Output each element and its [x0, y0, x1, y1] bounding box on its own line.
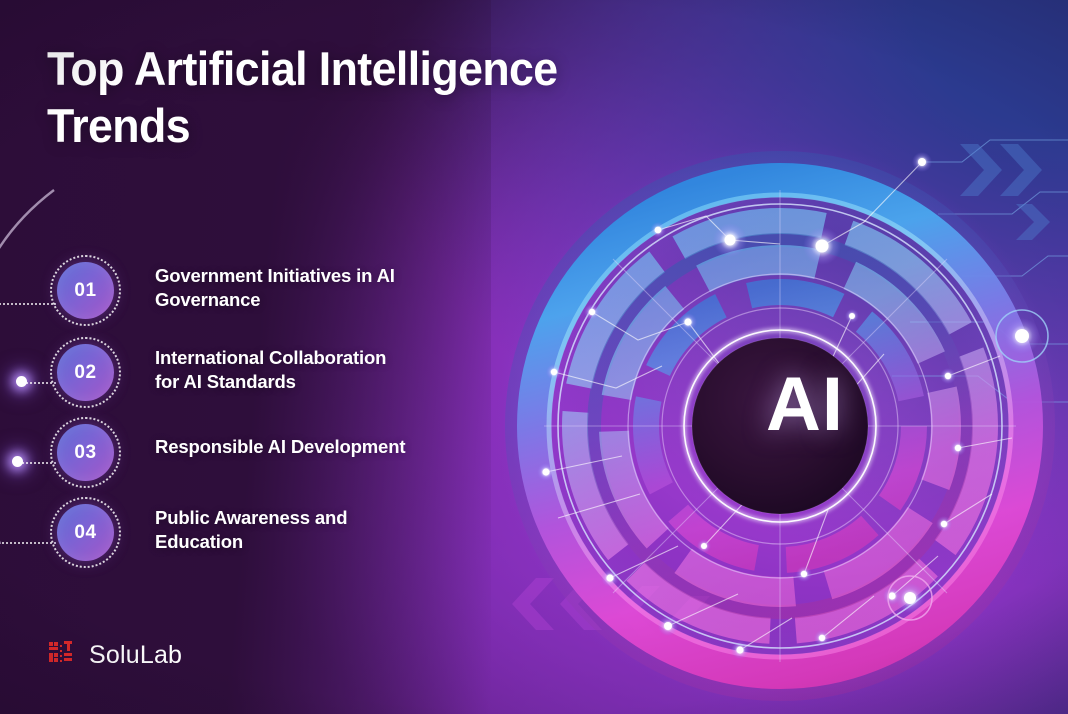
list-item[interactable]: 03 Responsible AI Development [0, 424, 540, 504]
ai-circular-graphic [492, 126, 1068, 714]
list-item[interactable]: 04 Public Awareness and Education [0, 504, 540, 584]
trends-list: 01 Government Initiatives in AI Governan… [0, 262, 540, 584]
solulab-mark-icon [48, 640, 78, 670]
trend-label: Responsible AI Development [155, 435, 535, 459]
infographic-poster: AI Top Artificial Intelligence Trends 01… [0, 0, 1068, 714]
trend-badge-02: 02 [57, 344, 114, 401]
list-item[interactable]: 02 International Collaboration for AI St… [0, 344, 540, 424]
solulab-logo-text: SoluLab [89, 641, 182, 670]
trend-number: 02 [74, 362, 96, 384]
trend-number: 04 [74, 522, 96, 544]
trend-label: Public Awareness and Education [155, 506, 515, 554]
trend-label: Government Initiatives in AI Governance [155, 264, 515, 312]
solulab-logo[interactable]: SoluLab [48, 640, 182, 670]
trend-number: 03 [74, 442, 96, 464]
page-title: Top Artificial Intelligence Trends [47, 40, 712, 155]
trend-label: International Collaboration for AI Stand… [155, 346, 515, 394]
trend-badge-04: 04 [57, 504, 114, 561]
trend-badge-03: 03 [57, 424, 114, 481]
list-item[interactable]: 01 Government Initiatives in AI Governan… [0, 262, 540, 344]
trend-badge-01: 01 [57, 262, 114, 319]
trend-number: 01 [74, 280, 96, 302]
